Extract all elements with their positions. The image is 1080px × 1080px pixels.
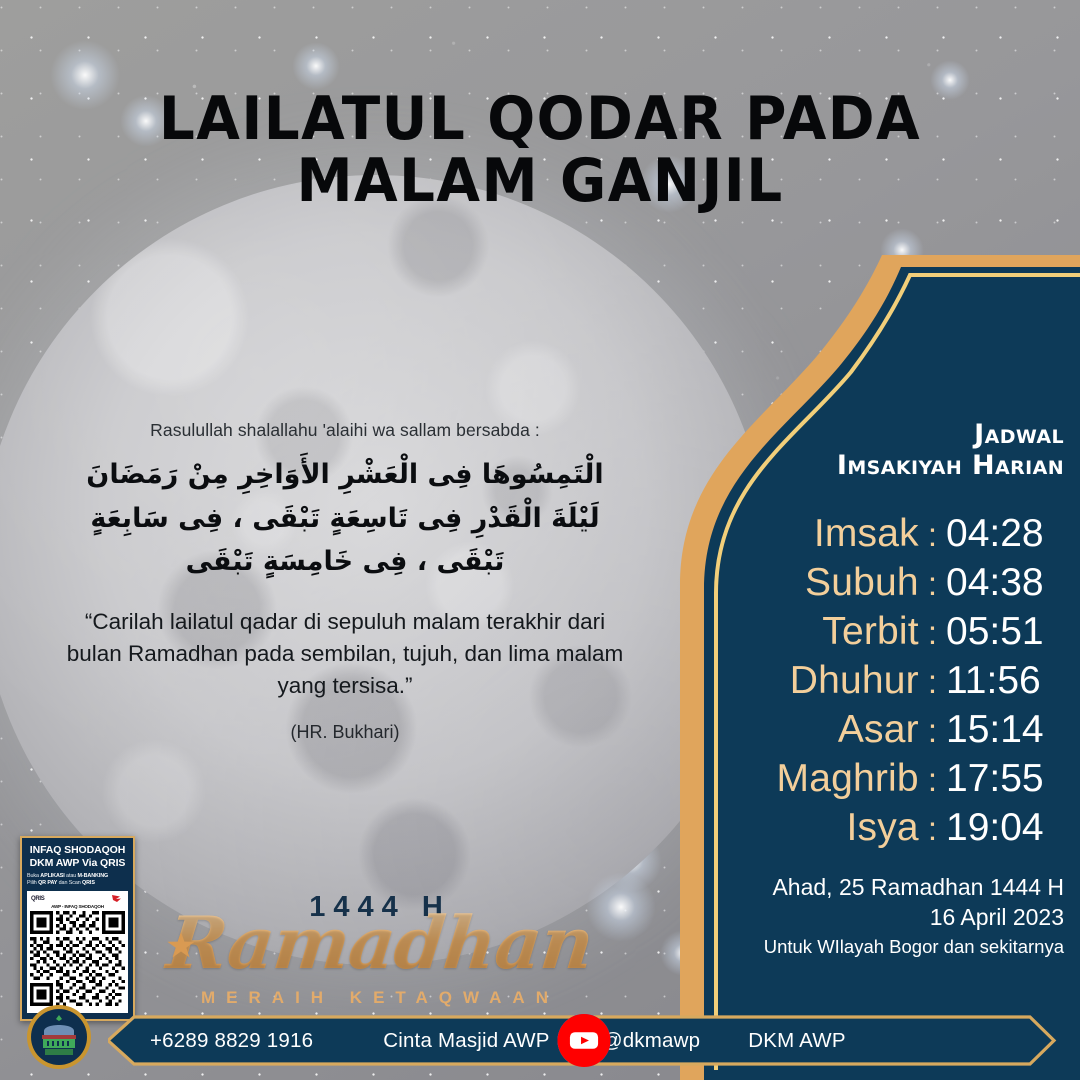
panel-heading-line-1: Jadwal [688, 420, 1064, 451]
poster-canvas: LAILATUL QODAR PADA MALAM GANJIL Rasulul… [0, 0, 1080, 1080]
qr-image-area: QRIS AWP - INFAQ SHODAQOH [27, 891, 128, 1013]
prayer-times-list: Imsak:04:28Subuh:04:38Terbit:05:51Dhuhur… [688, 512, 1064, 850]
date-gregorian: 16 April 2023 [688, 902, 1064, 932]
prayer-separator: : [928, 614, 937, 652]
ramadhan-wordmark: Ramadhan [146, 907, 614, 979]
title-line-1: LAILATUL QODAR PADA [159, 84, 921, 154]
prayer-time: 11:56 [946, 659, 1064, 703]
panel-heading: Jadwal Imsakiyah Harian [688, 420, 1064, 482]
star-icon [166, 931, 196, 961]
prayer-row-asar: Asar:15:14 [688, 708, 1064, 752]
prayer-name: Maghrib [777, 757, 919, 801]
qr-title-line-1: INFAQ SHODAQOH [27, 844, 128, 857]
ramadhan-tagline: MERAIH KETAQWAAN [150, 988, 610, 1008]
prayer-separator: : [928, 712, 937, 750]
ramadhan-logo: 1444 H Ramadhan MERAIH KETAQWAAN [150, 885, 610, 1010]
qris-logo-text: QRIS [31, 896, 44, 902]
prayer-separator: : [928, 810, 937, 848]
hadith-intro: Rasulullah shalallahu 'alaihi wa sallam … [60, 420, 630, 441]
qr-brand-row: QRIS [30, 894, 125, 904]
prayer-row-maghrib: Maghrib:17:55 [688, 757, 1064, 801]
qr-instructions: Buka APLIKASI atau M-BANKING Pilih QR PA… [27, 873, 128, 888]
contact-youtube[interactable]: DKM AWP [748, 1029, 845, 1053]
prayer-name: Imsak [814, 512, 919, 556]
prayer-row-isya: Isya:19:04 [688, 806, 1064, 850]
hadith-translation: “Carilah lailatul qadar di sepuluh malam… [60, 606, 630, 702]
prayer-separator: : [928, 761, 937, 799]
qr-instruction-line-1: Buka APLIKASI atau M-BANKING [27, 873, 128, 880]
prayer-name: Dhuhur [790, 659, 919, 703]
prayer-name: Subuh [805, 561, 919, 605]
page-title: LAILATUL QODAR PADA MALAM GANJIL [32, 88, 1047, 213]
qr-instruction-line-2: Pilih QR PAY dan Scan QRIS [27, 880, 128, 887]
qr-title-line-2: DKM AWP Via QRIS [27, 857, 128, 870]
prayer-name: Terbit [822, 610, 919, 654]
panel-heading-line-2: Imsakiyah Harian [688, 451, 1064, 482]
prayer-time: 19:04 [946, 806, 1064, 850]
prayer-separator: : [928, 565, 937, 603]
prayer-separator: : [928, 516, 937, 554]
prayer-name: Asar [838, 708, 919, 752]
prayer-time: 04:38 [946, 561, 1064, 605]
contact-footer-bar: +6289 8829 1916Cinta Masjid AWP@dkmawpDK… [108, 1014, 1060, 1067]
qris-donation-card[interactable]: INFAQ SHODAQOH DKM AWP Via QRIS Buka APL… [20, 836, 135, 1021]
prayer-time: 04:28 [946, 512, 1064, 556]
footer-contact-items: +6289 8829 1916Cinta Masjid AWP@dkmawpDK… [108, 1014, 1060, 1067]
prayer-row-imsak: Imsak:04:28 [688, 512, 1064, 556]
prayer-time: 17:55 [946, 757, 1064, 801]
qr-code-image [30, 911, 125, 1006]
gpn-logo-icon [111, 894, 124, 903]
region-label: Untuk WIlayah Bogor dan sekitarnya [688, 933, 1064, 961]
mosque-logo-icon [26, 1004, 92, 1070]
prayer-time: 15:14 [946, 708, 1064, 752]
prayer-time: 05:51 [946, 610, 1064, 654]
schedule-date-block: Ahad, 25 Ramadhan 1444 H 16 April 2023 U… [688, 872, 1064, 961]
star-glow [292, 42, 340, 90]
youtube-icon[interactable] [108, 1014, 1060, 1067]
prayer-row-dhuhur: Dhuhur:11:56 [688, 659, 1064, 703]
prayer-separator: : [928, 663, 937, 701]
prayer-name: Isya [847, 806, 919, 850]
hadith-block: Rasulullah shalallahu 'alaihi wa sallam … [60, 420, 630, 743]
prayer-row-subuh: Subuh:04:38 [688, 561, 1064, 605]
prayer-row-terbit: Terbit:05:51 [688, 610, 1064, 654]
date-hijri: Ahad, 25 Ramadhan 1444 H [688, 872, 1064, 902]
qr-merchant-name: AWP - INFAQ SHODAQOH [30, 904, 125, 909]
title-line-2: MALAM GANJIL [32, 150, 1047, 212]
panel-content: Jadwal Imsakiyah Harian Imsak:04:28Subuh… [688, 420, 1064, 961]
hadith-arabic-text: الْتَمِسُوهَا فِى الْعَشْرِ الأَوَاخِرِ … [60, 453, 630, 584]
hadith-source: (HR. Bukhari) [60, 722, 630, 743]
prayer-schedule-panel: Jadwal Imsakiyah Harian Imsak:04:28Subuh… [610, 255, 1080, 1080]
